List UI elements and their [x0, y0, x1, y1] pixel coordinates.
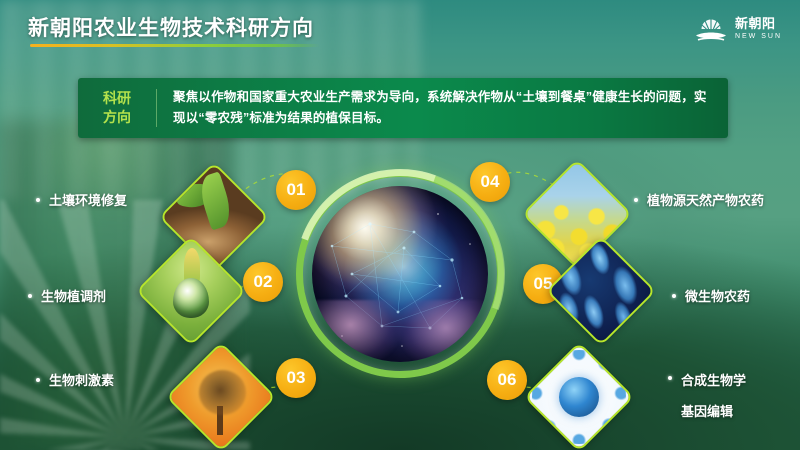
bullet-icon	[36, 378, 40, 382]
caption-03: 生物刺激素	[36, 370, 114, 389]
caption-02: 生物植调剂	[28, 286, 106, 305]
globe-sheen	[312, 186, 488, 362]
bullet-icon	[668, 376, 672, 380]
number-badge-04[interactable]: 04	[470, 162, 510, 202]
number-badge-01[interactable]: 01	[276, 170, 316, 210]
caption-05: 微生物农药	[672, 286, 750, 305]
slide-root: 新朝阳农业生物技术科研方向	[0, 0, 800, 450]
caption-01: 土壤环境修复	[36, 190, 127, 209]
bullet-icon	[36, 198, 40, 202]
caption-03-label: 生物刺激素	[49, 370, 114, 389]
bullet-icon	[634, 198, 638, 202]
number-badge-03[interactable]: 03	[276, 358, 316, 398]
caption-06-label-2: 基因编辑	[681, 401, 746, 420]
bullet-icon	[28, 294, 32, 298]
caption-01-label: 土壤环境修复	[49, 190, 127, 209]
caption-06-labels: 合成生物学 基因编辑	[681, 370, 746, 420]
number-badge-06[interactable]: 06	[487, 360, 527, 400]
caption-02-label: 生物植调剂	[41, 286, 106, 305]
number-badge-02[interactable]: 02	[243, 262, 283, 302]
caption-06-label-1: 合成生物学	[681, 370, 746, 389]
caption-04: 植物源天然产物农药	[634, 190, 764, 209]
hands-holding-network-globe-icon	[312, 186, 488, 362]
caption-05-label: 微生物农药	[685, 286, 750, 305]
caption-06: 合成生物学 基因编辑	[668, 370, 746, 420]
caption-04-label: 植物源天然产物农药	[647, 190, 764, 209]
bullet-icon	[672, 294, 676, 298]
center-globe	[296, 170, 504, 378]
